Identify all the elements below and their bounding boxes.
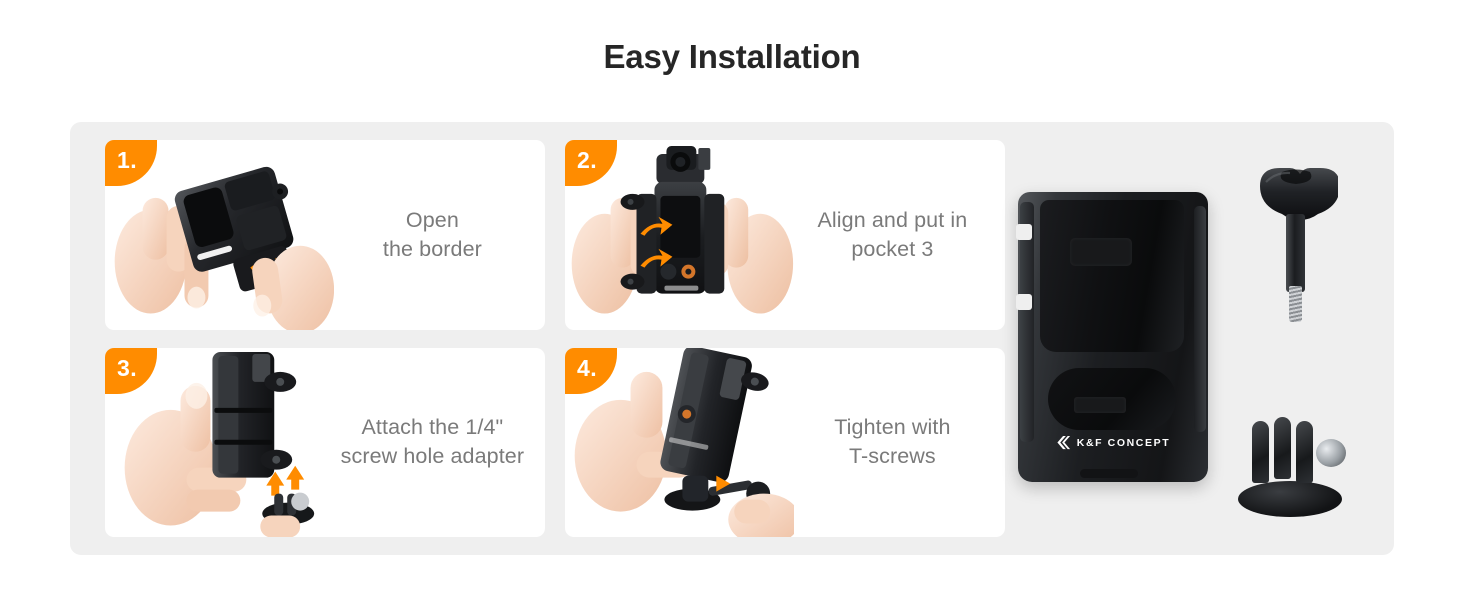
step-caption-2-line2: pocket 3	[794, 235, 991, 264]
product-showcase: K&F CONCEPT	[1000, 140, 1370, 537]
adapter-prong-2	[1274, 417, 1291, 479]
step-card-3: 3.	[105, 348, 545, 538]
step-caption-4-line2: T-screws	[794, 442, 991, 471]
cage-upper-shell	[1040, 200, 1184, 352]
step-card-1: 1.	[105, 140, 545, 330]
step-caption-4: Tighten with T-screws	[794, 413, 1005, 471]
adapter-base	[1238, 481, 1342, 517]
page-title: Easy Installation	[0, 38, 1464, 76]
step-caption-2: Align and put in pocket 3	[794, 206, 1005, 264]
t-screw-threads	[1289, 286, 1302, 322]
t-screw-shaft	[1286, 214, 1305, 292]
adapter-thumbscrew	[1316, 439, 1346, 467]
step-caption-4-line1: Tighten with	[834, 415, 950, 439]
step-caption-1-line2: the border	[334, 235, 531, 264]
cage-bottom-slot	[1080, 469, 1138, 478]
cage-brand-lockup: K&F CONCEPT	[1018, 435, 1208, 450]
infographic-page: Easy Installation 1.	[0, 0, 1464, 600]
product-t-screw	[1248, 158, 1344, 326]
step-card-2: 2.	[565, 140, 1005, 330]
cage-brand-text: K&F CONCEPT	[1077, 437, 1170, 449]
kf-logo-icon	[1056, 435, 1071, 450]
cage-lower-pad	[1074, 397, 1126, 413]
product-camera-cage: K&F CONCEPT	[1018, 192, 1208, 482]
adapter-prong-1	[1252, 421, 1269, 483]
step-caption-1-line1: Open	[406, 208, 459, 232]
cage-notch-bottom	[1016, 294, 1032, 310]
step-caption-3: Attach the 1/4" screw hole adapter	[334, 413, 545, 471]
step-caption-3-line1: Attach the 1/4"	[361, 415, 503, 439]
cage-upper-pad	[1070, 238, 1132, 266]
step-card-4: 4.	[565, 348, 1005, 538]
step-caption-2-line1: Align and put in	[817, 208, 967, 232]
product-tripod-adapter	[1232, 407, 1350, 519]
step-caption-1: Open the border	[334, 206, 545, 264]
cage-right-rail	[1194, 206, 1206, 432]
adapter-prong-3	[1296, 421, 1313, 483]
cage-left-rail	[1020, 202, 1034, 442]
cage-notch-top	[1016, 224, 1032, 240]
step-caption-3-line2: screw hole adapter	[334, 442, 531, 471]
steps-grid: 1.	[105, 140, 1005, 537]
content-panel: 1.	[70, 122, 1394, 555]
